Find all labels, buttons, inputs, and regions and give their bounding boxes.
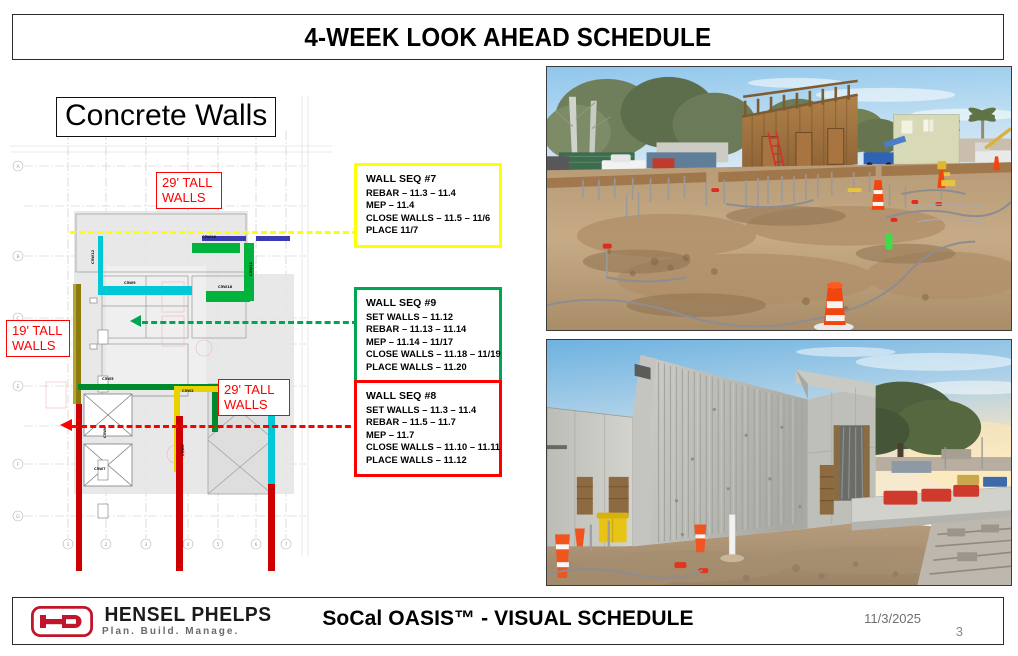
callout-line: SET WALLS – 11.12 — [366, 311, 491, 324]
svg-text:C5W11: C5W11 — [249, 261, 253, 276]
tag-line-1: 29' TALL — [162, 175, 217, 190]
callout-line: PLACE 11/7 — [366, 224, 491, 237]
svg-text:4: 4 — [187, 542, 190, 548]
svg-text:C5W8: C5W8 — [181, 444, 185, 456]
site-photo-concrete-walls[interactable] — [546, 339, 1012, 586]
arrow-left-icon-green — [130, 315, 141, 327]
callout-line: REBAR – 11.5 – 11.7 — [366, 416, 491, 429]
svg-text:2: 2 — [105, 542, 108, 548]
leader-line-yellow — [70, 231, 358, 234]
callout-wall-seq-8[interactable]: WALL SEQ #8 SET WALLS – 11.3 – 11.4 REBA… — [354, 380, 502, 477]
tall-wall-tag-19-left: 19' TALL WALLS — [6, 320, 70, 357]
tag-line-2: WALLS — [162, 190, 217, 205]
svg-text:7: 7 — [285, 542, 288, 548]
svg-text:C5W10: C5W10 — [202, 235, 217, 239]
slide-footer: HENSEL PHELPS Plan. Build. Manage. SoCal… — [12, 597, 1004, 645]
slide-title-box: 4-WEEK LOOK AHEAD SCHEDULE — [12, 14, 1004, 60]
svg-text:3: 3 — [145, 542, 148, 548]
plan-title-text: Concrete Walls — [65, 99, 267, 132]
svg-text:6: 6 — [255, 542, 258, 548]
svg-text:B: B — [16, 254, 19, 260]
callout-line: MEP – 11.14 – 11/17 — [366, 336, 491, 349]
svg-text:C5W2: C5W2 — [182, 389, 194, 393]
svg-text:C5W12: C5W12 — [91, 249, 95, 264]
page-title: 4-WEEK LOOK AHEAD SCHEDULE — [305, 22, 712, 53]
tall-wall-tag-29-top: 29' TALL WALLS — [156, 172, 222, 209]
callout-line: PLACE WALLS – 11.12 — [366, 454, 491, 467]
callout-wall-seq-7[interactable]: WALL SEQ #7 REBAR – 11.3 – 11.4 MEP – 11… — [354, 163, 502, 248]
svg-text:C5W9: C5W9 — [124, 281, 136, 285]
tag-line-2: WALLS — [224, 397, 285, 412]
plan-title-box: Concrete Walls — [56, 97, 276, 137]
tag-line-2: WALLS — [12, 338, 65, 353]
svg-text:C5W5: C5W5 — [102, 377, 114, 381]
svg-text:1: 1 — [67, 542, 70, 548]
callout-header: WALL SEQ #7 — [366, 173, 491, 187]
leader-line-green — [142, 321, 358, 324]
callout-line: SET WALLS – 11.3 – 11.4 — [366, 404, 491, 417]
callout-line: MEP – 11.4 — [366, 199, 491, 212]
callout-line: CLOSE WALLS – 11.5 – 11/6 — [366, 212, 491, 225]
svg-text:C5W18: C5W18 — [218, 285, 233, 289]
tag-line-1: 19' TALL — [12, 323, 65, 338]
svg-text:G: G — [16, 514, 20, 520]
callout-line: PLACE WALLS – 11.20 — [366, 361, 491, 374]
callout-header: WALL SEQ #8 — [366, 390, 491, 404]
svg-text:C5W7: C5W7 — [94, 467, 106, 471]
svg-text:F: F — [17, 462, 20, 468]
slide-page-number: 3 — [956, 624, 963, 639]
tall-wall-tag-29-mid: 29' TALL WALLS — [218, 379, 290, 416]
callout-line: CLOSE WALLS – 11.18 – 11/19 — [366, 348, 491, 361]
svg-text:5: 5 — [217, 542, 220, 548]
svg-text:A: A — [16, 164, 20, 170]
callout-line: REBAR – 11.3 – 11.4 — [366, 187, 491, 200]
tag-line-1: 29' TALL — [224, 382, 285, 397]
slide: 4-WEEK LOOK AHEAD SCHEDULE — [0, 0, 1018, 656]
leader-line-red — [72, 425, 360, 428]
callout-line: MEP – 11.7 — [366, 429, 491, 442]
footer-project-title: SoCal OASIS™ - VISUAL SCHEDULE — [13, 607, 1003, 631]
callout-wall-seq-9[interactable]: WALL SEQ #9 SET WALLS – 11.12 REBAR – 11… — [354, 287, 502, 384]
callout-header: WALL SEQ #9 — [366, 297, 491, 311]
site-photo-formwork[interactable] — [546, 66, 1012, 331]
callout-line: CLOSE WALLS – 11.10 – 11.11 — [366, 441, 491, 454]
slide-date: 11/3/2025 — [864, 611, 921, 626]
svg-text:E: E — [17, 384, 20, 390]
callout-line: REBAR – 11.13 – 11.14 — [366, 323, 491, 336]
arrow-left-icon-red — [60, 419, 72, 431]
